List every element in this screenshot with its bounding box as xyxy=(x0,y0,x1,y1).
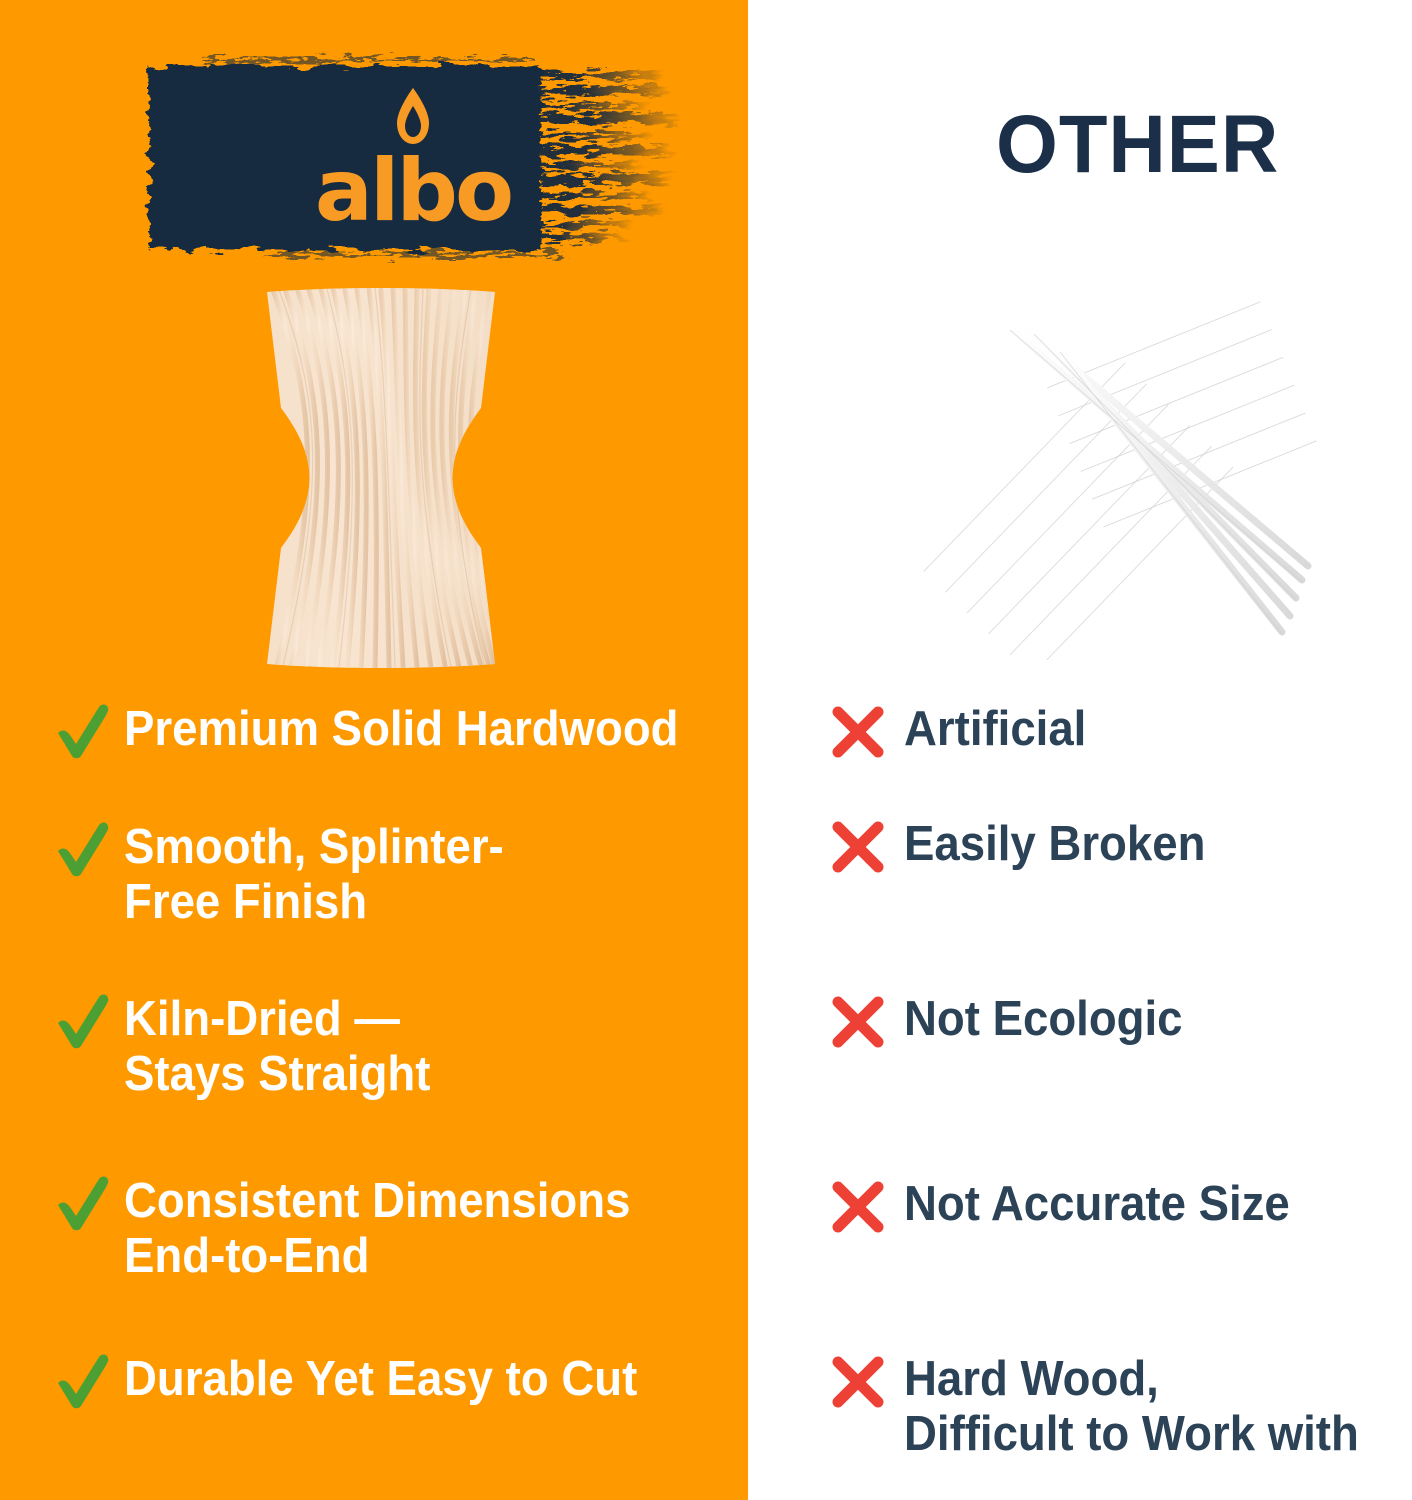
cross-icon xyxy=(830,994,886,1050)
list-item-label: Not Ecologic xyxy=(904,990,1183,1047)
brand-wordmark: albo xyxy=(143,148,683,234)
cross-icon xyxy=(830,1354,886,1410)
list-item-label: Premium Solid Hardwood xyxy=(124,700,678,757)
list-item: Not Ecologic xyxy=(830,990,1203,1050)
flame-icon xyxy=(393,87,433,145)
check-icon xyxy=(52,1350,114,1412)
list-item: Consistent Dimensions End-to-End xyxy=(52,1172,669,1284)
check-icon xyxy=(52,700,114,762)
list-item: Easily Broken xyxy=(830,815,1228,875)
list-item: Hard Wood, Difficult to Work with xyxy=(830,1350,1393,1462)
comparison-infographic: albo xyxy=(0,0,1412,1500)
list-item: Smooth, Splinter- Free Finish xyxy=(52,818,532,930)
other-panel: OTHER xyxy=(748,0,1412,1500)
page-title: OTHER xyxy=(996,104,1279,186)
plastic-stick-bundle-image xyxy=(898,280,1338,660)
list-item-label: Hard Wood, Difficult to Work with xyxy=(904,1350,1359,1462)
cross-icon xyxy=(830,704,886,760)
list-item-label: Consistent Dimensions End-to-End xyxy=(124,1172,630,1284)
albo-logo-banner: albo xyxy=(143,52,688,264)
list-item: Not Accurate Size xyxy=(830,1175,1319,1235)
list-item-label: Easily Broken xyxy=(904,815,1205,872)
wood-dowel-bundle-image xyxy=(243,288,519,668)
check-icon xyxy=(52,990,114,1052)
check-icon xyxy=(52,818,114,880)
list-item-label: Smooth, Splinter- Free Finish xyxy=(124,818,504,930)
list-item-label: Durable Yet Easy to Cut xyxy=(124,1350,637,1407)
list-item: Premium Solid Hardwood xyxy=(52,700,720,762)
list-item-label: Not Accurate Size xyxy=(904,1175,1290,1232)
albo-panel: albo xyxy=(0,0,748,1500)
list-item-label: Artificial xyxy=(904,700,1086,757)
cross-icon xyxy=(830,1179,886,1235)
list-item: Kiln-Dried — Stays Straight xyxy=(52,990,453,1102)
cross-icon xyxy=(830,819,886,875)
check-icon xyxy=(52,1172,114,1234)
list-item: Artificial xyxy=(830,700,1100,760)
list-item: Durable Yet Easy to Cut xyxy=(52,1350,676,1412)
list-item-label: Kiln-Dried — Stays Straight xyxy=(124,990,430,1102)
